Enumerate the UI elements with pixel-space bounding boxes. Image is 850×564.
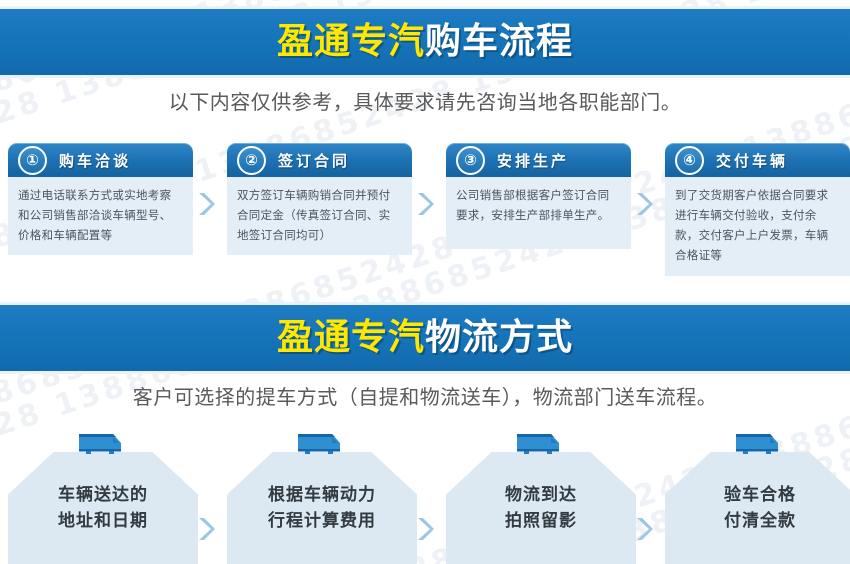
- banner-title-brand: 盈通专汽: [277, 21, 425, 62]
- step-title-2: 签订合同: [278, 150, 350, 171]
- logistics-label-line1: 根据车辆动力: [227, 482, 417, 508]
- banner-title: 盈通专汽购车流程: [277, 24, 573, 60]
- chevron-right-icon: [412, 191, 438, 217]
- step-body-4: 到了交货期客户依据合同要求进行车辆交付验收，支付余款，交付客户上户发票，车辆合格…: [665, 177, 850, 276]
- step-header-4: ④ 交付车辆: [665, 143, 850, 177]
- step-header-2: ② 签订合同: [227, 143, 412, 177]
- logistics-card-1[interactable]: 车辆送达的 地址和日期: [8, 430, 193, 564]
- step-title-3: 安排生产: [497, 150, 569, 171]
- banner-title-rest: 物流方式: [425, 317, 573, 358]
- logistics-label-line2: 地址和日期: [8, 508, 198, 534]
- purchase-step-row: ① 购车洽谈 通过电话联系方式或实地考察和公司销售部洽谈车辆型号、价格和车辆配置…: [0, 143, 850, 258]
- logistics-label-line1: 验车合格: [665, 482, 850, 508]
- logistics-label-line2: 行程计算费用: [227, 508, 417, 534]
- step-body-2: 双方签订车辆购销合同并预付合同定金（传真签订合同、实地签订合同均可）: [227, 177, 412, 255]
- promo-page: 13886852428 13886852428 13886852428 1388…: [0, 0, 850, 564]
- step-header-1: ① 购车洽谈: [8, 143, 193, 177]
- step-title-1: 购车洽谈: [59, 150, 131, 171]
- step-card-1[interactable]: ① 购车洽谈 通过电话联系方式或实地考察和公司销售部洽谈车辆型号、价格和车辆配置…: [8, 143, 193, 255]
- subtitle-purchase: 以下内容仅供参考，具体要求请先咨询当地各职能部门。: [0, 86, 850, 115]
- logistics-label-1: 车辆送达的 地址和日期: [8, 482, 198, 535]
- logistics-step-row: 车辆送达的 地址和日期 根据车辆动力 行程计算费用: [0, 430, 850, 564]
- logistics-label-2: 根据车辆动力 行程计算费用: [227, 482, 417, 535]
- truck-icon: [292, 430, 348, 458]
- step-number-4: ④: [675, 146, 704, 175]
- step-card-2[interactable]: ② 签订合同 双方签订车辆购销合同并预付合同定金（传真签订合同、实地签订合同均可…: [227, 143, 412, 255]
- logistics-label-4: 验车合格 付清全款: [665, 482, 850, 535]
- banner-title: 盈通专汽物流方式: [277, 320, 573, 356]
- banner-title-brand: 盈通专汽: [277, 317, 425, 358]
- truck-icon: [511, 430, 567, 458]
- banner-logistics: 盈通专汽物流方式: [0, 302, 850, 374]
- step-body-3: 公司销售部根据客户签订合同要求，安排生产部排单生产。: [446, 177, 631, 249]
- logistics-card-2[interactable]: 根据车辆动力 行程计算费用: [227, 430, 412, 564]
- banner-title-rest: 购车流程: [425, 21, 573, 62]
- logistics-label-line2: 拍照留影: [446, 508, 636, 534]
- logistics-label-line2: 付清全款: [665, 508, 850, 534]
- step-card-3[interactable]: ③ 安排生产 公司销售部根据客户签订合同要求，安排生产部排单生产。: [446, 143, 631, 249]
- logistics-card-3[interactable]: 物流到达 拍照留影: [446, 430, 631, 564]
- logistics-label-line1: 物流到达: [446, 482, 636, 508]
- subtitle-logistics: 客户可选择的提车方式（自提和物流送车），物流部门送车流程。: [0, 381, 850, 410]
- step-title-4: 交付车辆: [716, 150, 788, 171]
- truck-icon: [73, 430, 129, 458]
- chevron-right-icon: [193, 191, 219, 217]
- chevron-right-icon: [631, 191, 657, 217]
- truck-icon: [730, 430, 786, 458]
- logistics-label-3: 物流到达 拍照留影: [446, 482, 636, 535]
- step-number-1: ①: [18, 146, 47, 175]
- step-card-4[interactable]: ④ 交付车辆 到了交货期客户依据合同要求进行车辆交付验收，支付余款，交付客户上户…: [665, 143, 850, 276]
- step-body-1: 通过电话联系方式或实地考察和公司销售部洽谈车辆型号、价格和车辆配置等: [8, 177, 193, 255]
- banner-purchase-process: 盈通专汽购车流程: [0, 6, 850, 78]
- logistics-label-line1: 车辆送达的: [8, 482, 198, 508]
- step-number-3: ③: [456, 146, 485, 175]
- logistics-card-4[interactable]: 验车合格 付清全款: [665, 430, 850, 564]
- step-header-3: ③ 安排生产: [446, 143, 631, 177]
- step-number-2: ②: [237, 146, 266, 175]
